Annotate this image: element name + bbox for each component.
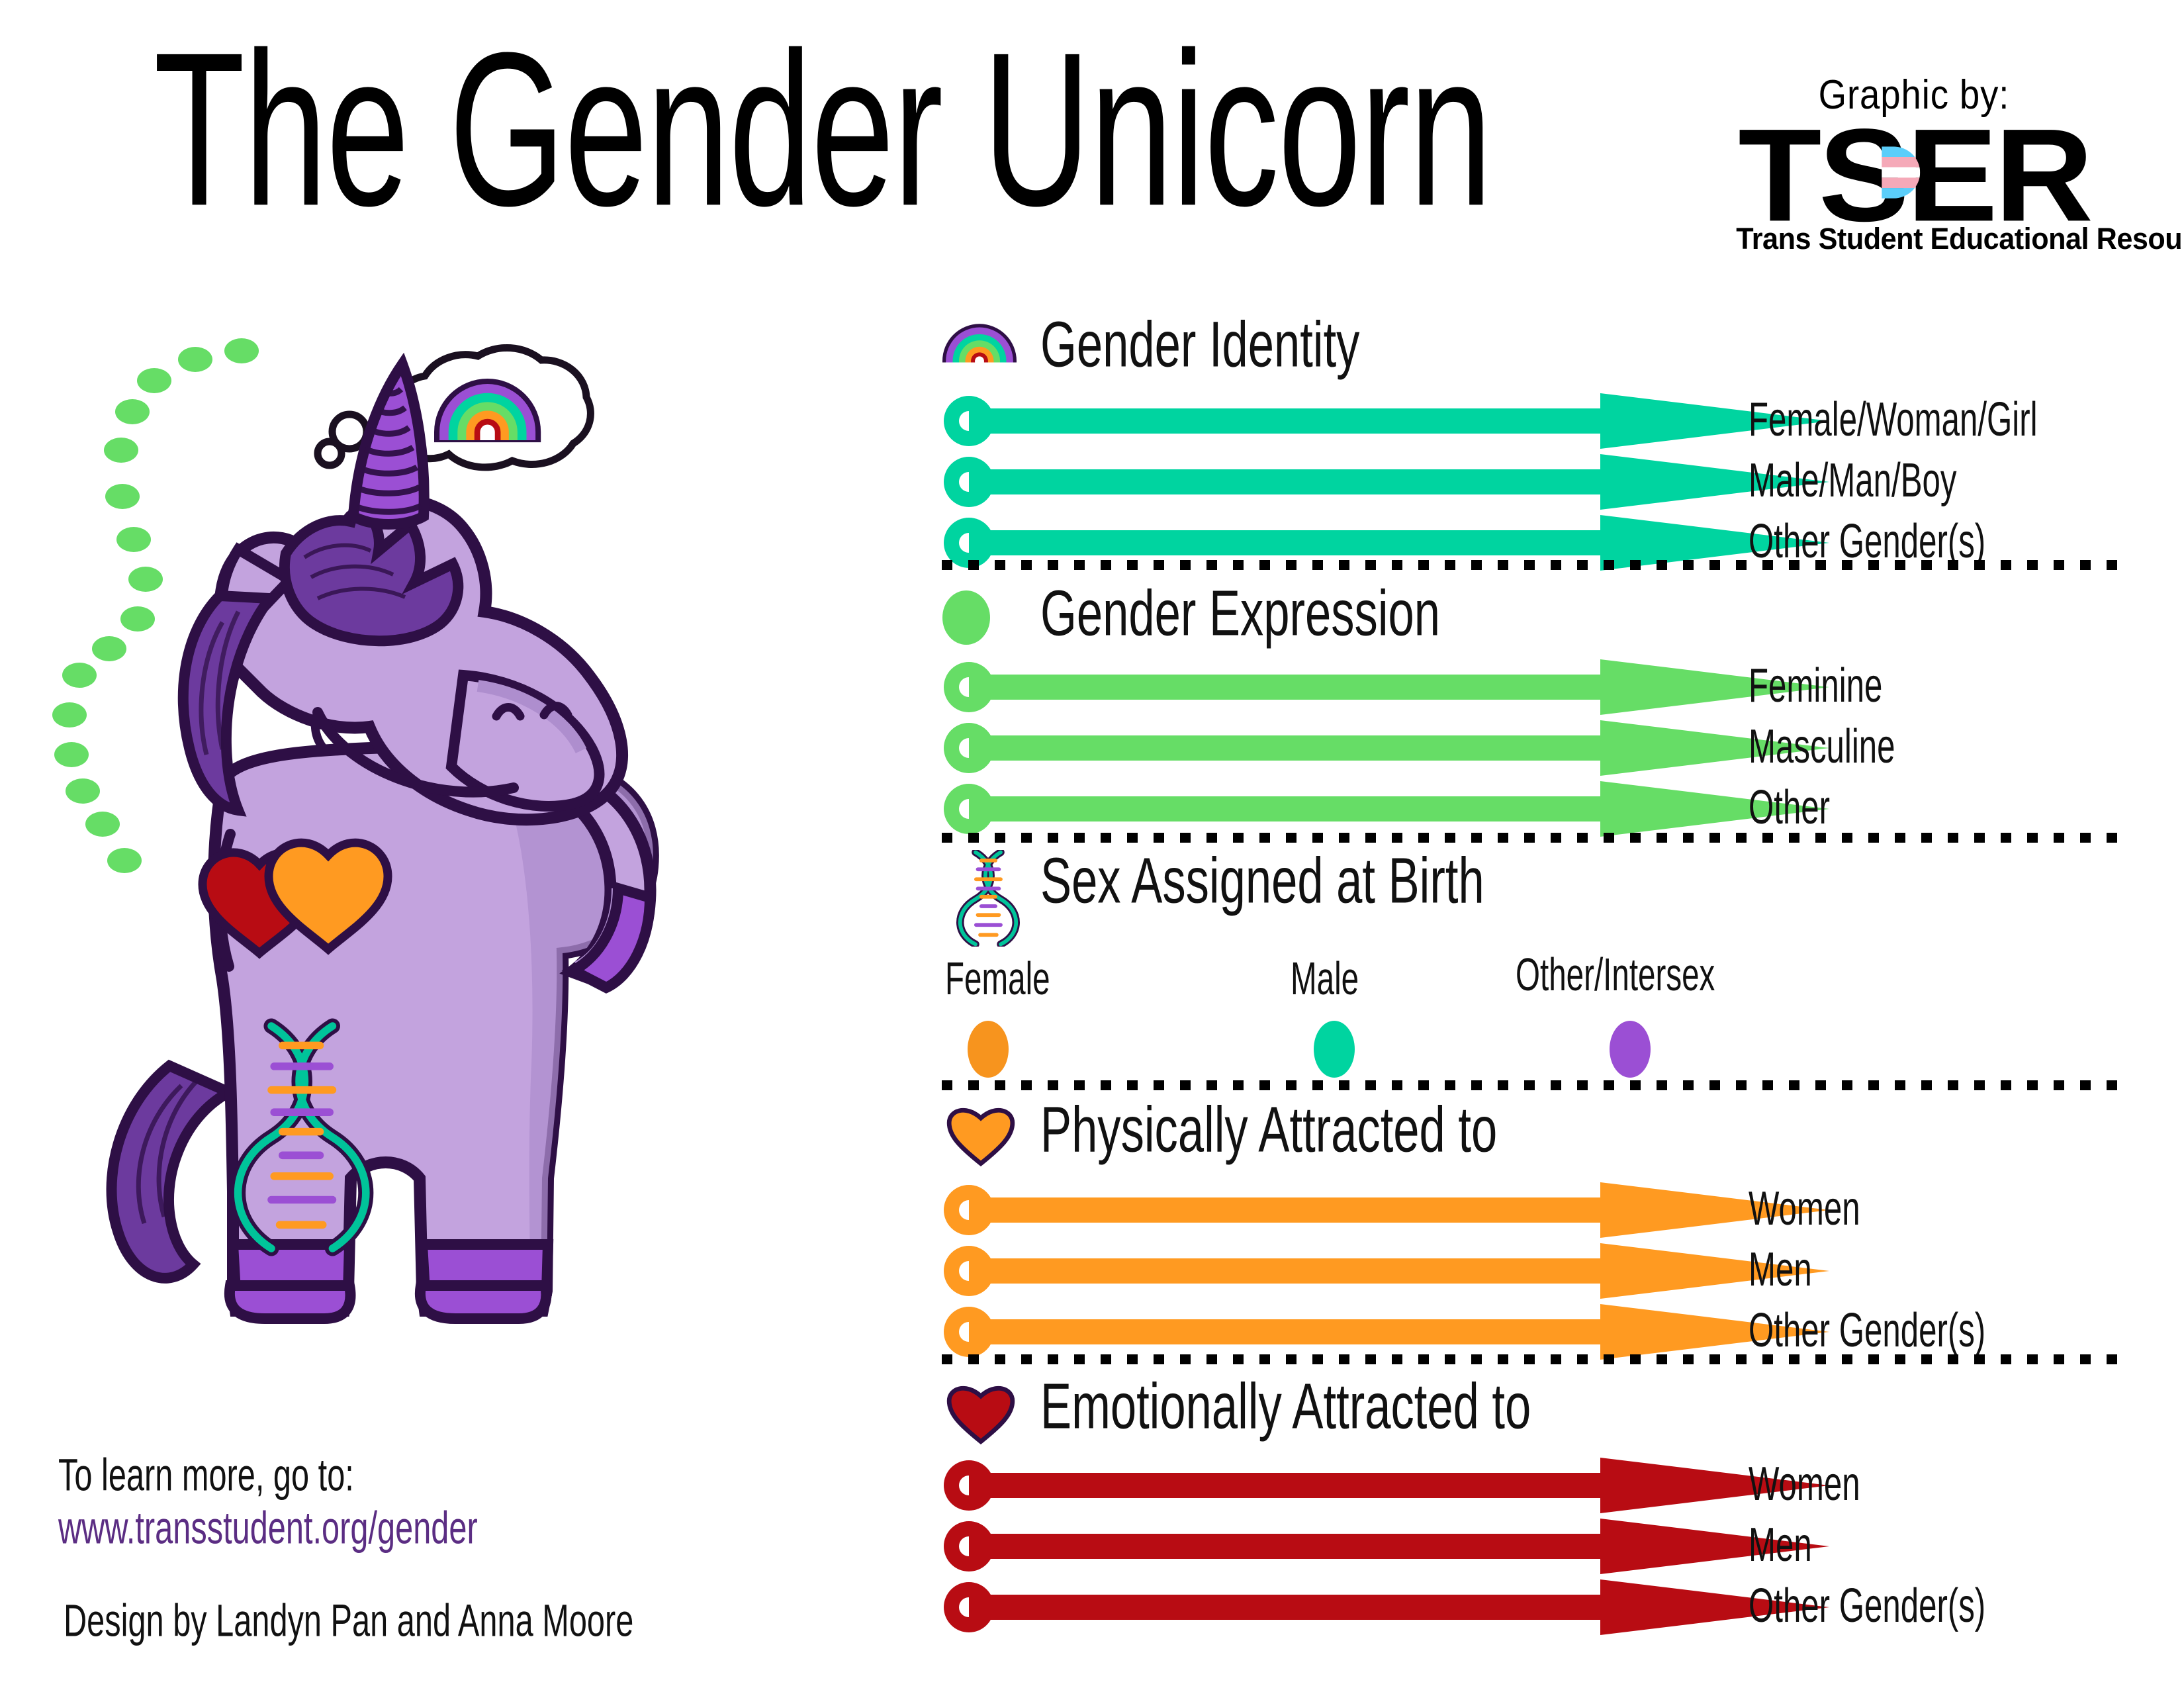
rainbow-icon [942, 311, 1017, 371]
spectrum-row[interactable] [944, 1521, 1884, 1571]
spectrum-row-label: Other Gender(s) [1749, 518, 1985, 565]
spectrum-row[interactable] [944, 784, 1884, 834]
spectrum-shaft [969, 469, 1631, 494]
section-title-gender-expression: Gender Expression [1040, 581, 1440, 645]
section-divider [942, 1080, 2133, 1090]
spectrum-shaft [969, 530, 1631, 555]
sab-dot-label-male: Male [1291, 956, 1359, 1002]
spectrum-row-label: Feminine [1749, 662, 1882, 710]
section-title-physically-attracted-to: Physically Attracted to [1040, 1097, 1497, 1161]
red-heart-icon [946, 1381, 1015, 1448]
spectrum-row-label: Other Gender(s) [1749, 1582, 1985, 1630]
spectrum-shaft [969, 675, 1631, 700]
unicorn-figure [112, 364, 653, 1319]
section-title-emotionally-attracted-to: Emotionally Attracted to [1040, 1374, 1531, 1438]
tser-full-name: Trans Student Educational Resources [1736, 222, 2092, 256]
dna-icon [953, 850, 1023, 950]
sab-dot-male[interactable] [1314, 1021, 1355, 1078]
green-circle-icon [942, 590, 990, 645]
tser-logo-block: Graphic by: TSER Trans Student Education… [1729, 71, 2099, 256]
spectrum-row[interactable] [944, 1185, 1884, 1235]
spectrum-row-label: Women [1749, 1460, 1860, 1508]
spectrum-row[interactable] [944, 396, 1884, 446]
section-divider [942, 1354, 2133, 1364]
spectrum-shaft [969, 1534, 1631, 1559]
spectrum-row[interactable] [944, 457, 1884, 507]
spectrum-shaft [969, 1258, 1631, 1284]
spectrum-row-label: Men [1749, 1521, 1812, 1569]
sab-dot-other-intersex[interactable] [1610, 1021, 1651, 1078]
section-title-sex-assigned-at-birth: Sex Assigned at Birth [1040, 848, 1484, 912]
learn-more-url[interactable]: www.transstudent.org/gender [58, 1499, 478, 1557]
spectrum-row-label: Female/Woman/Girl [1749, 396, 2038, 444]
spectrum-row-label: Men [1749, 1246, 1812, 1293]
spectrum-row-label: Masculine [1749, 723, 1895, 771]
orange-heart-icon [946, 1103, 1015, 1170]
spectrum-row[interactable] [944, 1582, 1884, 1632]
section-divider [942, 560, 2133, 570]
page-title: The Gender Unicorn [154, 20, 1491, 239]
spectrum-row-label: Women [1749, 1185, 1860, 1233]
section-divider [942, 833, 2133, 843]
spectrum-row[interactable] [944, 1307, 1884, 1357]
spectrum-shaft [969, 796, 1631, 821]
tser-wordmark: TSER [1738, 120, 2090, 231]
spectrum-row-label: Male/Man/Boy [1749, 457, 1956, 504]
spectrum-row[interactable] [944, 662, 1884, 712]
spectrum-shaft [969, 1473, 1631, 1498]
gender-unicorn-illustration [40, 318, 900, 1390]
sab-dot-label-other-intersex: Other/Intersex [1516, 952, 1715, 998]
learn-more-label: To learn more, go to: [58, 1446, 354, 1504]
spectrum-row[interactable] [944, 1460, 1884, 1511]
spectrum-shaft [969, 408, 1631, 434]
spectrum-shaft [969, 735, 1631, 761]
sab-dot-female[interactable] [968, 1021, 1009, 1078]
section-title-gender-identity: Gender Identity [1040, 312, 1359, 376]
spectrum-row[interactable] [944, 723, 1884, 773]
spectrum-shaft [969, 1197, 1631, 1223]
design-credit: Design by Landyn Pan and Anna Moore [64, 1592, 633, 1650]
spectrum-row-label: Other [1749, 784, 1830, 831]
spectrum-row[interactable] [944, 1246, 1884, 1296]
spectrum-shaft [969, 1319, 1631, 1344]
spectrum-shaft [969, 1595, 1631, 1620]
sab-dot-label-female: Female [945, 956, 1050, 1002]
spectrum-row-label: Other Gender(s) [1749, 1307, 1985, 1354]
